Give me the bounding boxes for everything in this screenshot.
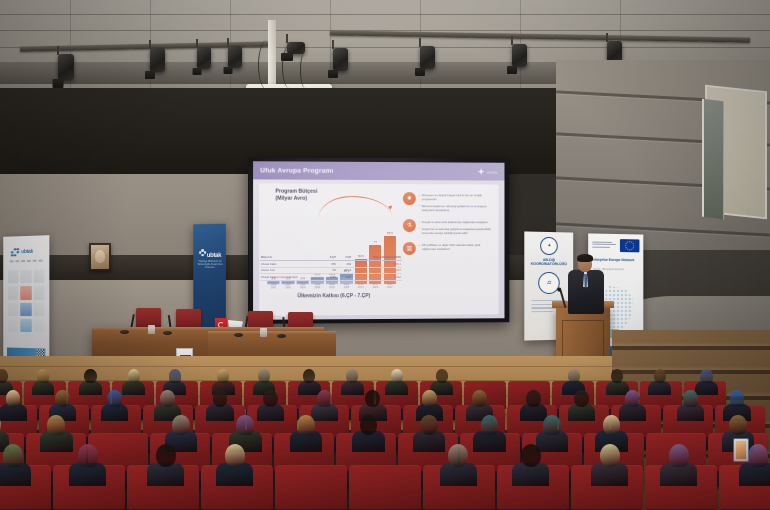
audience-head <box>568 369 580 383</box>
table-cell: %35 <box>324 274 337 281</box>
audience-headscarf <box>669 444 689 467</box>
audience-area <box>0 372 770 510</box>
audience-head <box>156 444 176 467</box>
microphone-base <box>234 333 243 337</box>
table-cell: 55 <box>324 267 337 274</box>
audience-headscarf <box>107 390 122 407</box>
auditorium-scene: Ufuk Avrupa Programı ubtak Program Bütçe… <box>0 0 770 510</box>
slide-brand: ubtak <box>478 168 498 175</box>
audience-head <box>213 390 228 407</box>
audience-head <box>6 390 21 407</box>
eu-star-icon <box>627 241 629 243</box>
audience-headscarf <box>78 444 98 467</box>
innovation-icon: ✸ <box>403 192 416 205</box>
audience-head <box>521 444 541 467</box>
eu-star-icon <box>625 247 627 249</box>
slide-header: Ufuk Avrupa Programı ubtak <box>253 161 504 180</box>
audience-head <box>611 369 623 383</box>
audience-head <box>160 390 175 407</box>
banner-subtitle-rule <box>10 260 43 263</box>
table-row: Alınan Fon55206,9267 <box>260 267 402 274</box>
auditorium-seat <box>351 468 419 510</box>
audience-head <box>172 415 190 435</box>
chart-label-line2: (Milyar Avro) <box>275 195 307 201</box>
audience-head <box>448 444 468 467</box>
projector-cable <box>258 40 276 90</box>
audience-head <box>422 390 437 407</box>
chart-label-line1: Program Bütçesi <box>275 189 317 195</box>
eu-star-icon <box>625 243 627 245</box>
audience-headscarf <box>37 369 49 383</box>
eu-star-icon <box>631 248 633 250</box>
audience-head <box>603 415 621 435</box>
banner-subtitle: Türkiye Bilimsel ve Teknolojik Araştırma… <box>196 260 224 269</box>
table-cell: 293 <box>337 261 352 268</box>
brand-label: ubtak <box>487 169 498 174</box>
water-glass <box>148 325 155 334</box>
audience-headscarf <box>297 415 315 435</box>
water-glass <box>260 328 267 337</box>
slide-bullets-area: ✸Dünyanın en büyük bütçeli sivil Ar-Ge v… <box>401 184 499 315</box>
trend-arrow <box>317 195 392 229</box>
phone-screen <box>736 441 746 459</box>
table-cell: 155 <box>324 261 337 268</box>
microphone-base <box>163 331 172 335</box>
audience-head <box>365 390 380 407</box>
slide-contribution-table-wrap: Milyon €6.ÇP7.ÇPUfuk 2020 (2014-2020) Ul… <box>260 255 406 303</box>
control-booth-glass <box>702 99 724 220</box>
banner-logo-text: ubtak <box>207 253 221 259</box>
slide-bullet-texts: Sosyal ve ekonomik kalkınmayı sağlamak a… <box>419 219 495 237</box>
audience-headscarf <box>169 369 181 383</box>
banner-title-line2: KOORDİNATÖRLÜĞÜ <box>531 262 567 266</box>
building-icon: ▥ <box>403 242 416 255</box>
slide-bullet-line: Araştırma ve teknoloji geliştirme kapasi… <box>419 227 495 235</box>
audience-headscarf <box>47 415 65 435</box>
university-seal-icon: ⚖ <box>538 272 560 294</box>
eu-star-icon <box>632 247 634 249</box>
table-cell: %65 <box>337 274 352 281</box>
eu-star-icon <box>629 241 631 243</box>
audience-head <box>436 369 448 383</box>
audience-headscarf <box>748 444 768 467</box>
audience-head <box>391 369 403 383</box>
slide-bullet-row: ✸Dünyanın en büyük bütçeli sivil Ar-Ge v… <box>403 192 495 214</box>
banner-partner-lines <box>592 241 617 249</box>
audience-headscarf <box>317 390 332 407</box>
table-cell: Ulusal Katkı <box>260 261 324 268</box>
sponsor-logo-grid <box>8 270 45 333</box>
chart-bar-value: 77 <box>374 240 377 244</box>
table-cell: 355,1 <box>352 261 402 268</box>
audience-headscarf <box>700 369 712 383</box>
slide-bullet-texts: Dünyanın en büyük bütçeli sivil Ar-Ge ve… <box>419 192 495 214</box>
audience-head <box>654 369 666 383</box>
slide-bullet-row: ⚗Sosyal ve ekonomik kalkınmayı sağlamak … <box>403 219 495 237</box>
slide-bullet-line: AB politikası ve diğer farklı alanlara i… <box>419 243 495 251</box>
hexdots-icon <box>199 249 207 256</box>
audience-head <box>84 369 96 383</box>
audience-head <box>600 444 620 467</box>
chart-label: Program Bütçesi (Milyar Avro) <box>275 189 317 202</box>
projector-cable <box>282 46 296 88</box>
banner-top-row <box>592 239 639 253</box>
audience-headscarf <box>236 415 254 435</box>
slide-title: Ufuk Avrupa Programı <box>260 167 333 174</box>
audience-headscarf <box>3 444 23 467</box>
audience-head <box>263 390 278 407</box>
audience-head <box>472 390 487 407</box>
eu-star-icon <box>629 249 631 251</box>
banner-logo-text: ubtak <box>21 249 33 255</box>
audience-headscarf <box>543 415 561 435</box>
slide-bullet-line: Dünyanın en büyük bütçeli sivil Ar-Ge ve… <box>419 193 495 202</box>
slide-bullet-line: Sosyal ve ekonomik kalkınmayı sağlamak a… <box>419 220 495 224</box>
audience-head <box>258 369 270 383</box>
hexdots-icon <box>11 248 20 257</box>
audience-head <box>526 390 541 407</box>
auditorium-seat <box>277 468 345 510</box>
table-cell: Ulusal Katkının Geri Dönüşü <box>260 274 324 281</box>
speaker-person <box>566 254 606 314</box>
audience-headscarf <box>730 390 745 407</box>
chart-bar-value: 95,5 <box>387 231 393 235</box>
audience-head <box>55 390 70 407</box>
flask-icon: ⚗ <box>403 219 416 232</box>
university-seal-icon: ✦ <box>540 237 558 255</box>
eu-star-icon <box>625 245 627 247</box>
eu-flag-icon <box>620 239 640 252</box>
contribution-table: Milyon €6.ÇP7.ÇPUfuk 2020 (2014-2020) Ul… <box>260 255 402 281</box>
audience-head <box>225 444 245 467</box>
attendee-phone <box>733 438 749 462</box>
starburst-icon <box>478 168 485 175</box>
eu-star-icon <box>627 248 629 250</box>
audience-head <box>360 415 378 435</box>
audience-head <box>574 390 589 407</box>
table-row: Ulusal Katkının Geri Dönüşü%35%65%112 <box>260 274 402 281</box>
table-row: Ulusal Katkı155293355,1 <box>260 261 402 268</box>
table-cell: 267 <box>352 267 402 274</box>
microphone-base <box>277 334 286 338</box>
arrow-head-icon <box>388 204 394 210</box>
audience-head <box>420 415 438 435</box>
slide-bullet-texts: AB politikası ve diğer farklı alanlara i… <box>419 242 495 254</box>
eu-star-icon <box>632 243 634 245</box>
sponsors-banner: ubtak <box>3 235 49 367</box>
table-cell: %112 <box>352 274 402 281</box>
table-cell: 206,9 <box>337 267 352 274</box>
audience-headscarf <box>625 390 640 407</box>
audience-headscarf <box>683 390 698 407</box>
table-body: Ulusal Katkı155293355,1Alınan Fon55206,9… <box>260 261 402 281</box>
slide-bullet-line: Bilimsel araştırma, teknoloji geliştirme… <box>419 204 495 213</box>
audience-headscarf <box>481 415 499 435</box>
table-cell: Alınan Fon <box>260 267 324 274</box>
ataturk-portrait <box>89 243 111 271</box>
eu-star-icon <box>631 241 633 243</box>
microphone-base <box>120 330 129 334</box>
audience-head <box>128 369 140 383</box>
audience-head <box>729 415 747 435</box>
projector-cable <box>300 52 310 88</box>
eu-star-icon <box>633 245 635 247</box>
slide-bullet-row: ▥AB politikası ve diğer farklı alanlara … <box>403 242 495 255</box>
banner-logo: ubtak <box>11 246 42 259</box>
